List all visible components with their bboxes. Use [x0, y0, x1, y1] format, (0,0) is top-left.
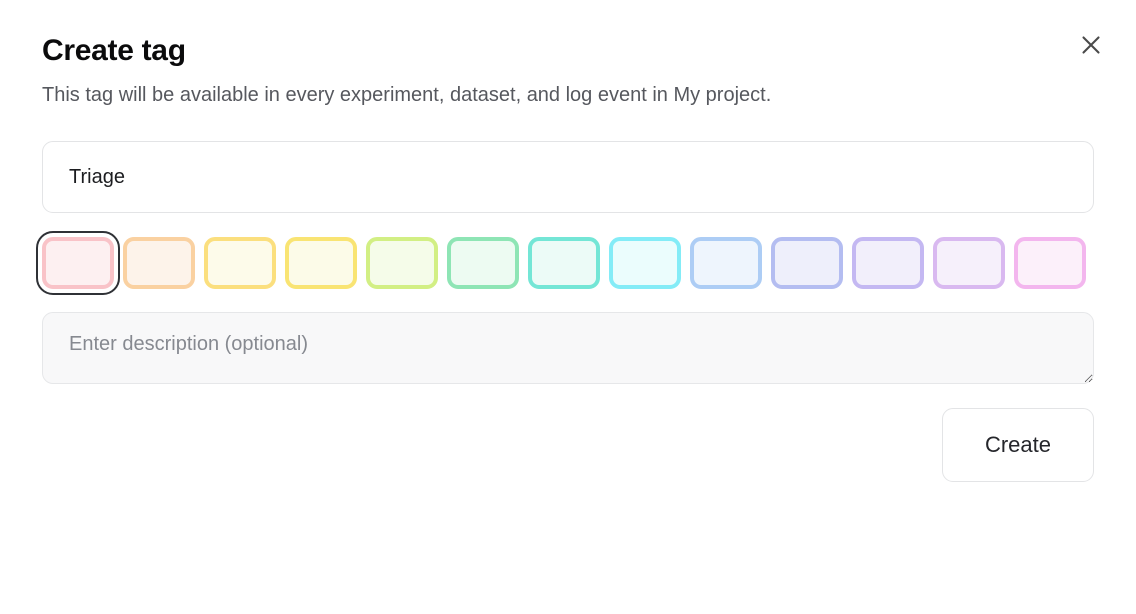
- color-swatch-row: [42, 235, 1094, 291]
- color-swatch-yellow[interactable]: [204, 237, 276, 289]
- color-swatch-lime[interactable]: [366, 237, 438, 289]
- close-icon-glyph: [1080, 34, 1102, 56]
- color-swatch-pink[interactable]: [42, 237, 114, 289]
- color-swatch-sky-blue[interactable]: [690, 237, 762, 289]
- dialog-footer: Create: [42, 408, 1094, 482]
- color-swatch-cyan[interactable]: [609, 237, 681, 289]
- create-button[interactable]: Create: [942, 408, 1094, 482]
- color-swatch-gold[interactable]: [285, 237, 357, 289]
- tag-name-input[interactable]: [42, 141, 1094, 213]
- color-swatch-lavender[interactable]: [852, 237, 924, 289]
- color-swatch-mint[interactable]: [447, 237, 519, 289]
- color-swatch-magenta[interactable]: [1014, 237, 1086, 289]
- page-title: Create tag: [42, 34, 1094, 67]
- color-swatch-violet[interactable]: [933, 237, 1005, 289]
- color-swatch-peach[interactable]: [123, 237, 195, 289]
- tag-description-input[interactable]: [42, 312, 1094, 384]
- close-icon[interactable]: [1072, 26, 1110, 64]
- color-swatch-aquamarine[interactable]: [528, 237, 600, 289]
- color-swatch-periwinkle[interactable]: [771, 237, 843, 289]
- dialog-subtitle: This tag will be available in every expe…: [42, 81, 1002, 110]
- create-tag-dialog: Create tag This tag will be available in…: [0, 0, 1136, 614]
